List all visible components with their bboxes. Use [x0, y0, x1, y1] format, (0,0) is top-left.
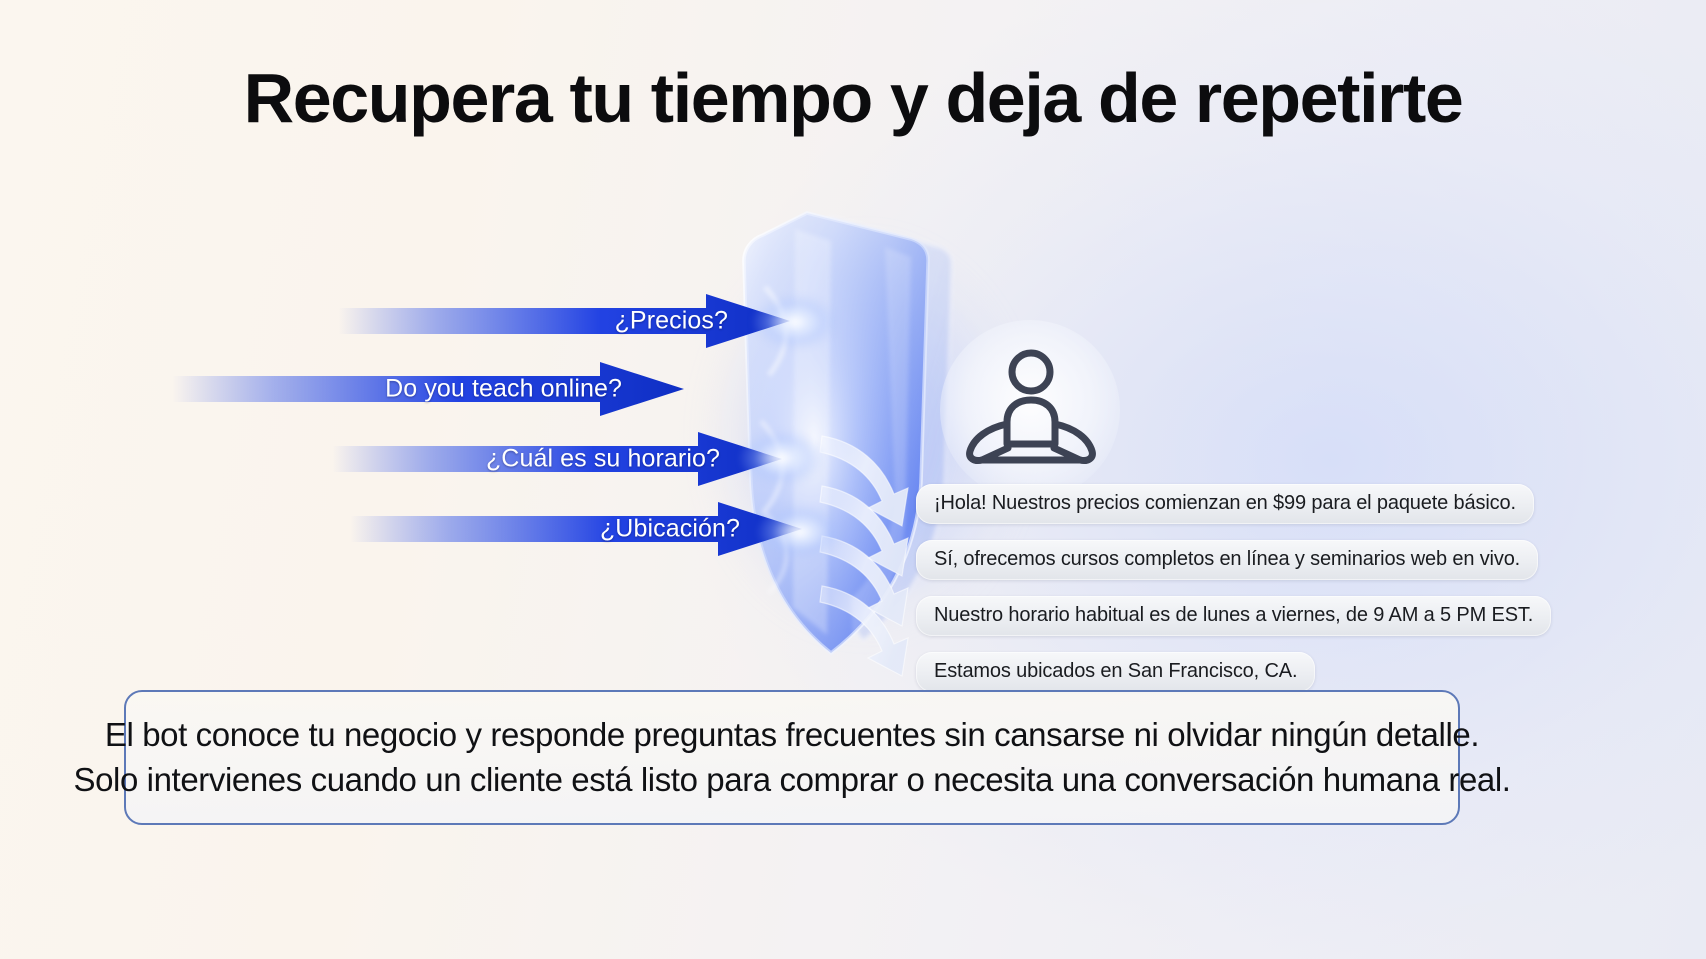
bot-reply-row: ¡Hola! Nuestros precios comienzan en $99…	[916, 484, 1536, 540]
incoming-question-arrow-3: ¿Cuál es su horario?	[332, 430, 782, 488]
bot-reply-bubble[interactable]: ¡Hola! Nuestros precios comienzan en $99…	[916, 484, 1534, 524]
bot-reply-bubble[interactable]: Sí, ofrecemos cursos completos en línea …	[916, 540, 1538, 580]
incoming-question-label: Do you teach online?	[385, 375, 622, 404]
bot-reply-list: ¡Hola! Nuestros precios comienzan en $99…	[916, 484, 1536, 708]
bot-reply-bubble[interactable]: Estamos ubicados en San Francisco, CA.	[916, 652, 1315, 692]
slide-canvas: Recupera tu tiempo y deja de repetirte	[0, 0, 1706, 959]
incoming-question-label: ¿Ubicación?	[600, 515, 740, 544]
incoming-question-arrow-4: ¿Ubicación?	[350, 500, 802, 558]
incoming-question-arrow-1: ¿Precios?	[338, 292, 790, 350]
bot-reply-row: Sí, ofrecemos cursos completos en línea …	[916, 540, 1536, 596]
page-title: Recupera tu tiempo y deja de repetirte	[0, 58, 1706, 138]
caption-line-1: El bot conoce tu negocio y responde preg…	[105, 715, 1479, 755]
incoming-question-arrow-2: Do you teach online?	[172, 360, 684, 418]
meditating-person-icon	[962, 348, 1100, 470]
caption-box: El bot conoce tu negocio y responde preg…	[124, 690, 1460, 825]
incoming-question-label: ¿Precios?	[615, 307, 728, 336]
caption-line-2: Solo intervienes cuando un cliente está …	[73, 760, 1510, 800]
bot-reply-bubble[interactable]: Nuestro horario habitual es de lunes a v…	[916, 596, 1551, 636]
bot-reply-row: Nuestro horario habitual es de lunes a v…	[916, 596, 1536, 652]
meditating-person-graphic	[940, 320, 1120, 500]
incoming-question-label: ¿Cuál es su horario?	[486, 445, 720, 474]
